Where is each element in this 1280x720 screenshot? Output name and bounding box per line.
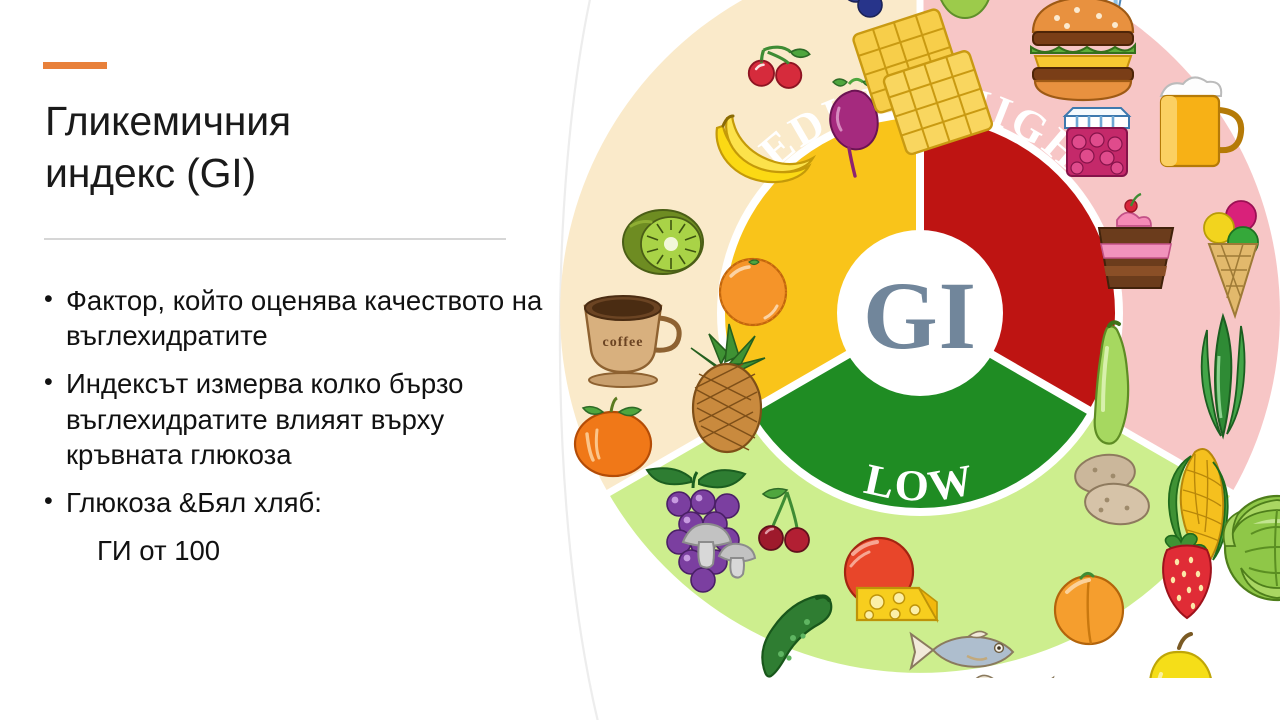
food-icon-kiwi: [623, 210, 703, 274]
bullet-marker: •: [44, 485, 66, 517]
svg-text:coffee: coffee: [603, 335, 644, 350]
accent-bar: [43, 62, 107, 69]
food-icon-orange: [720, 259, 786, 325]
gi-wheel-svg: MEDIUM HIGH LOW GI: [555, 0, 1280, 678]
bullet-list: • Фактор, който оценява качеството на въ…: [44, 283, 564, 568]
food-icon-jam-jar: [1065, 108, 1129, 176]
bullet-text: Индексът измерва колко бързо въглехидрат…: [66, 366, 564, 472]
bullet-text: Глюкоза &Бял хляб:: [66, 485, 564, 520]
food-icon-fish-lower: [951, 675, 1053, 678]
page-title-line-2: индекс (GI): [45, 147, 515, 199]
food-icon-cabbage: [1224, 496, 1280, 600]
list-item: • Индексът измерва колко бързо въглехидр…: [44, 366, 564, 472]
sub-line-text: ГИ от 100: [44, 533, 564, 568]
food-icon-strawberry: [1163, 534, 1211, 618]
segment-label-low: LOW: [860, 454, 979, 511]
bullet-marker: •: [44, 283, 66, 315]
gi-wheel: MEDIUM HIGH LOW GI: [555, 0, 1280, 678]
wheel-center-label: GI: [863, 262, 977, 369]
page-title: Гликемичния индекс (GI): [45, 95, 515, 199]
bullet-text: Фактор, който оценява качеството на въгл…: [66, 283, 564, 353]
title-divider: [44, 238, 506, 240]
slide-canvas: Гликемичния индекс (GI) • Фактор, който …: [0, 0, 1280, 720]
list-item: • Фактор, който оценява качеството на въ…: [44, 283, 564, 353]
food-icon-apple: [1150, 634, 1212, 678]
list-item: • Глюкоза &Бял хляб:: [44, 485, 564, 520]
page-title-line-1: Гликемичния: [45, 95, 515, 147]
bullet-marker: •: [44, 366, 66, 398]
